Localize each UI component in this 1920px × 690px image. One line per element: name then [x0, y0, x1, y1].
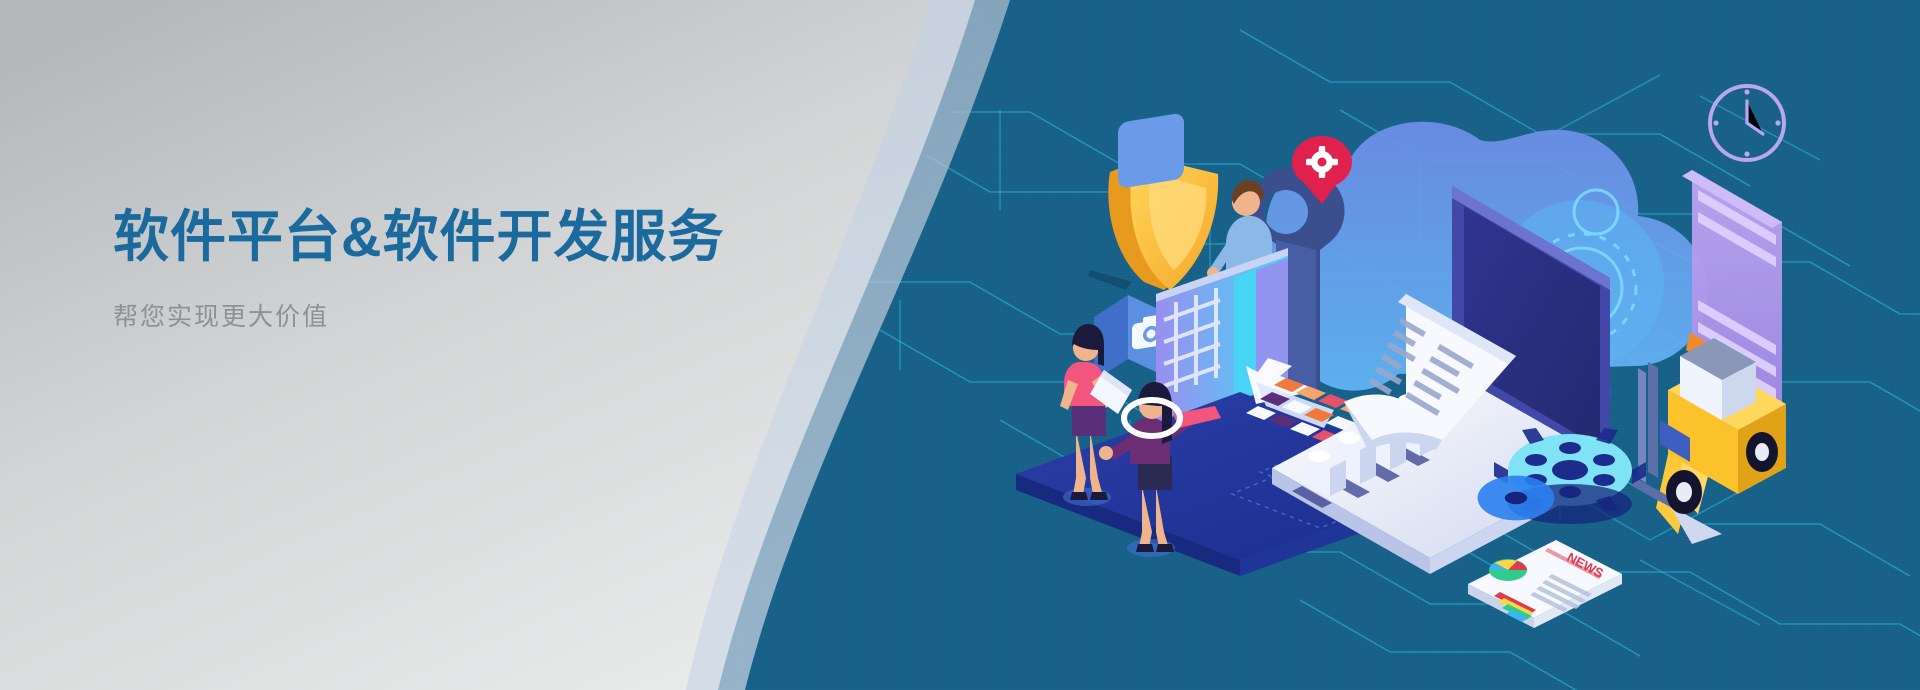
hero-banner: NEWS 软件平台&软件开发服务	[0, 0, 1920, 690]
page-subtitle: 帮您实现更大价值	[113, 301, 873, 334]
gray-curved-panel	[0, 0, 1920, 690]
hero-text-block: 软件平台&软件开发服务 帮您实现更大价值	[113, 205, 873, 334]
page-title: 软件平台&软件开发服务	[113, 205, 873, 269]
